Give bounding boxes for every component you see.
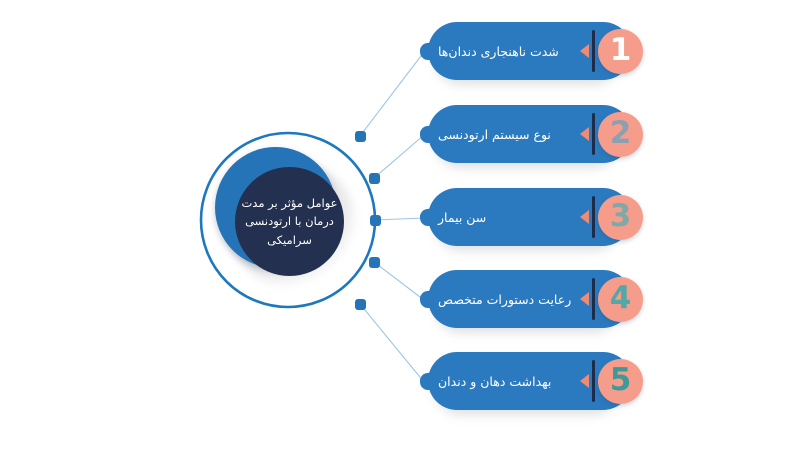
item-label: سن بیمار bbox=[438, 188, 578, 246]
divider bbox=[592, 30, 595, 72]
item-label: رعایت دستورات متخصص bbox=[438, 270, 578, 328]
central-hub: عوامل مؤثر بر مدت درمان با ارتودنسی سرام… bbox=[201, 133, 375, 307]
badge-number: 1 bbox=[610, 35, 632, 66]
status-badge: 3 bbox=[598, 195, 643, 240]
list-item[interactable]: سن بیمار 3 bbox=[420, 188, 632, 246]
item-label: بهداشت دهان و دندان bbox=[438, 352, 578, 410]
arrow-left-icon bbox=[580, 127, 589, 141]
list-item[interactable]: شدت ناهنجاری دندان‌ها 1 bbox=[420, 22, 632, 80]
badge-number: 3 bbox=[610, 201, 632, 232]
hub-core: عوامل مؤثر بر مدت درمان با ارتودنسی سرام… bbox=[235, 167, 344, 276]
divider bbox=[592, 113, 595, 155]
hub-ring: عوامل مؤثر بر مدت درمان با ارتودنسی سرام… bbox=[215, 147, 336, 268]
arrow-left-icon bbox=[580, 210, 589, 224]
arrow-left-icon bbox=[580, 374, 589, 388]
list-item[interactable]: بهداشت دهان و دندان 5 bbox=[420, 352, 632, 410]
status-badge: 2 bbox=[598, 112, 643, 157]
page-title: عوامل مؤثر بر مدت درمان با ارتودنسی سرام… bbox=[240, 194, 340, 250]
status-badge: 1 bbox=[598, 29, 643, 74]
list-item[interactable]: رعایت دستورات متخصص 4 bbox=[420, 270, 632, 328]
divider bbox=[592, 278, 595, 320]
list-item[interactable]: نوع سیستم ارتودنسی 2 bbox=[420, 105, 632, 163]
status-badge: 5 bbox=[598, 359, 643, 404]
badge-number: 2 bbox=[610, 118, 632, 149]
connector-layer bbox=[0, 0, 800, 450]
badge-number: 5 bbox=[610, 365, 632, 396]
item-label: نوع سیستم ارتودنسی bbox=[438, 105, 578, 163]
badge-number: 4 bbox=[610, 283, 632, 314]
arrow-left-icon bbox=[580, 292, 589, 306]
divider bbox=[592, 196, 595, 238]
status-badge: 4 bbox=[598, 277, 643, 322]
arrow-left-icon bbox=[580, 44, 589, 58]
infographic-canvas: عوامل مؤثر بر مدت درمان با ارتودنسی سرام… bbox=[0, 0, 800, 450]
item-label: شدت ناهنجاری دندان‌ها bbox=[438, 22, 578, 80]
divider bbox=[592, 360, 595, 402]
